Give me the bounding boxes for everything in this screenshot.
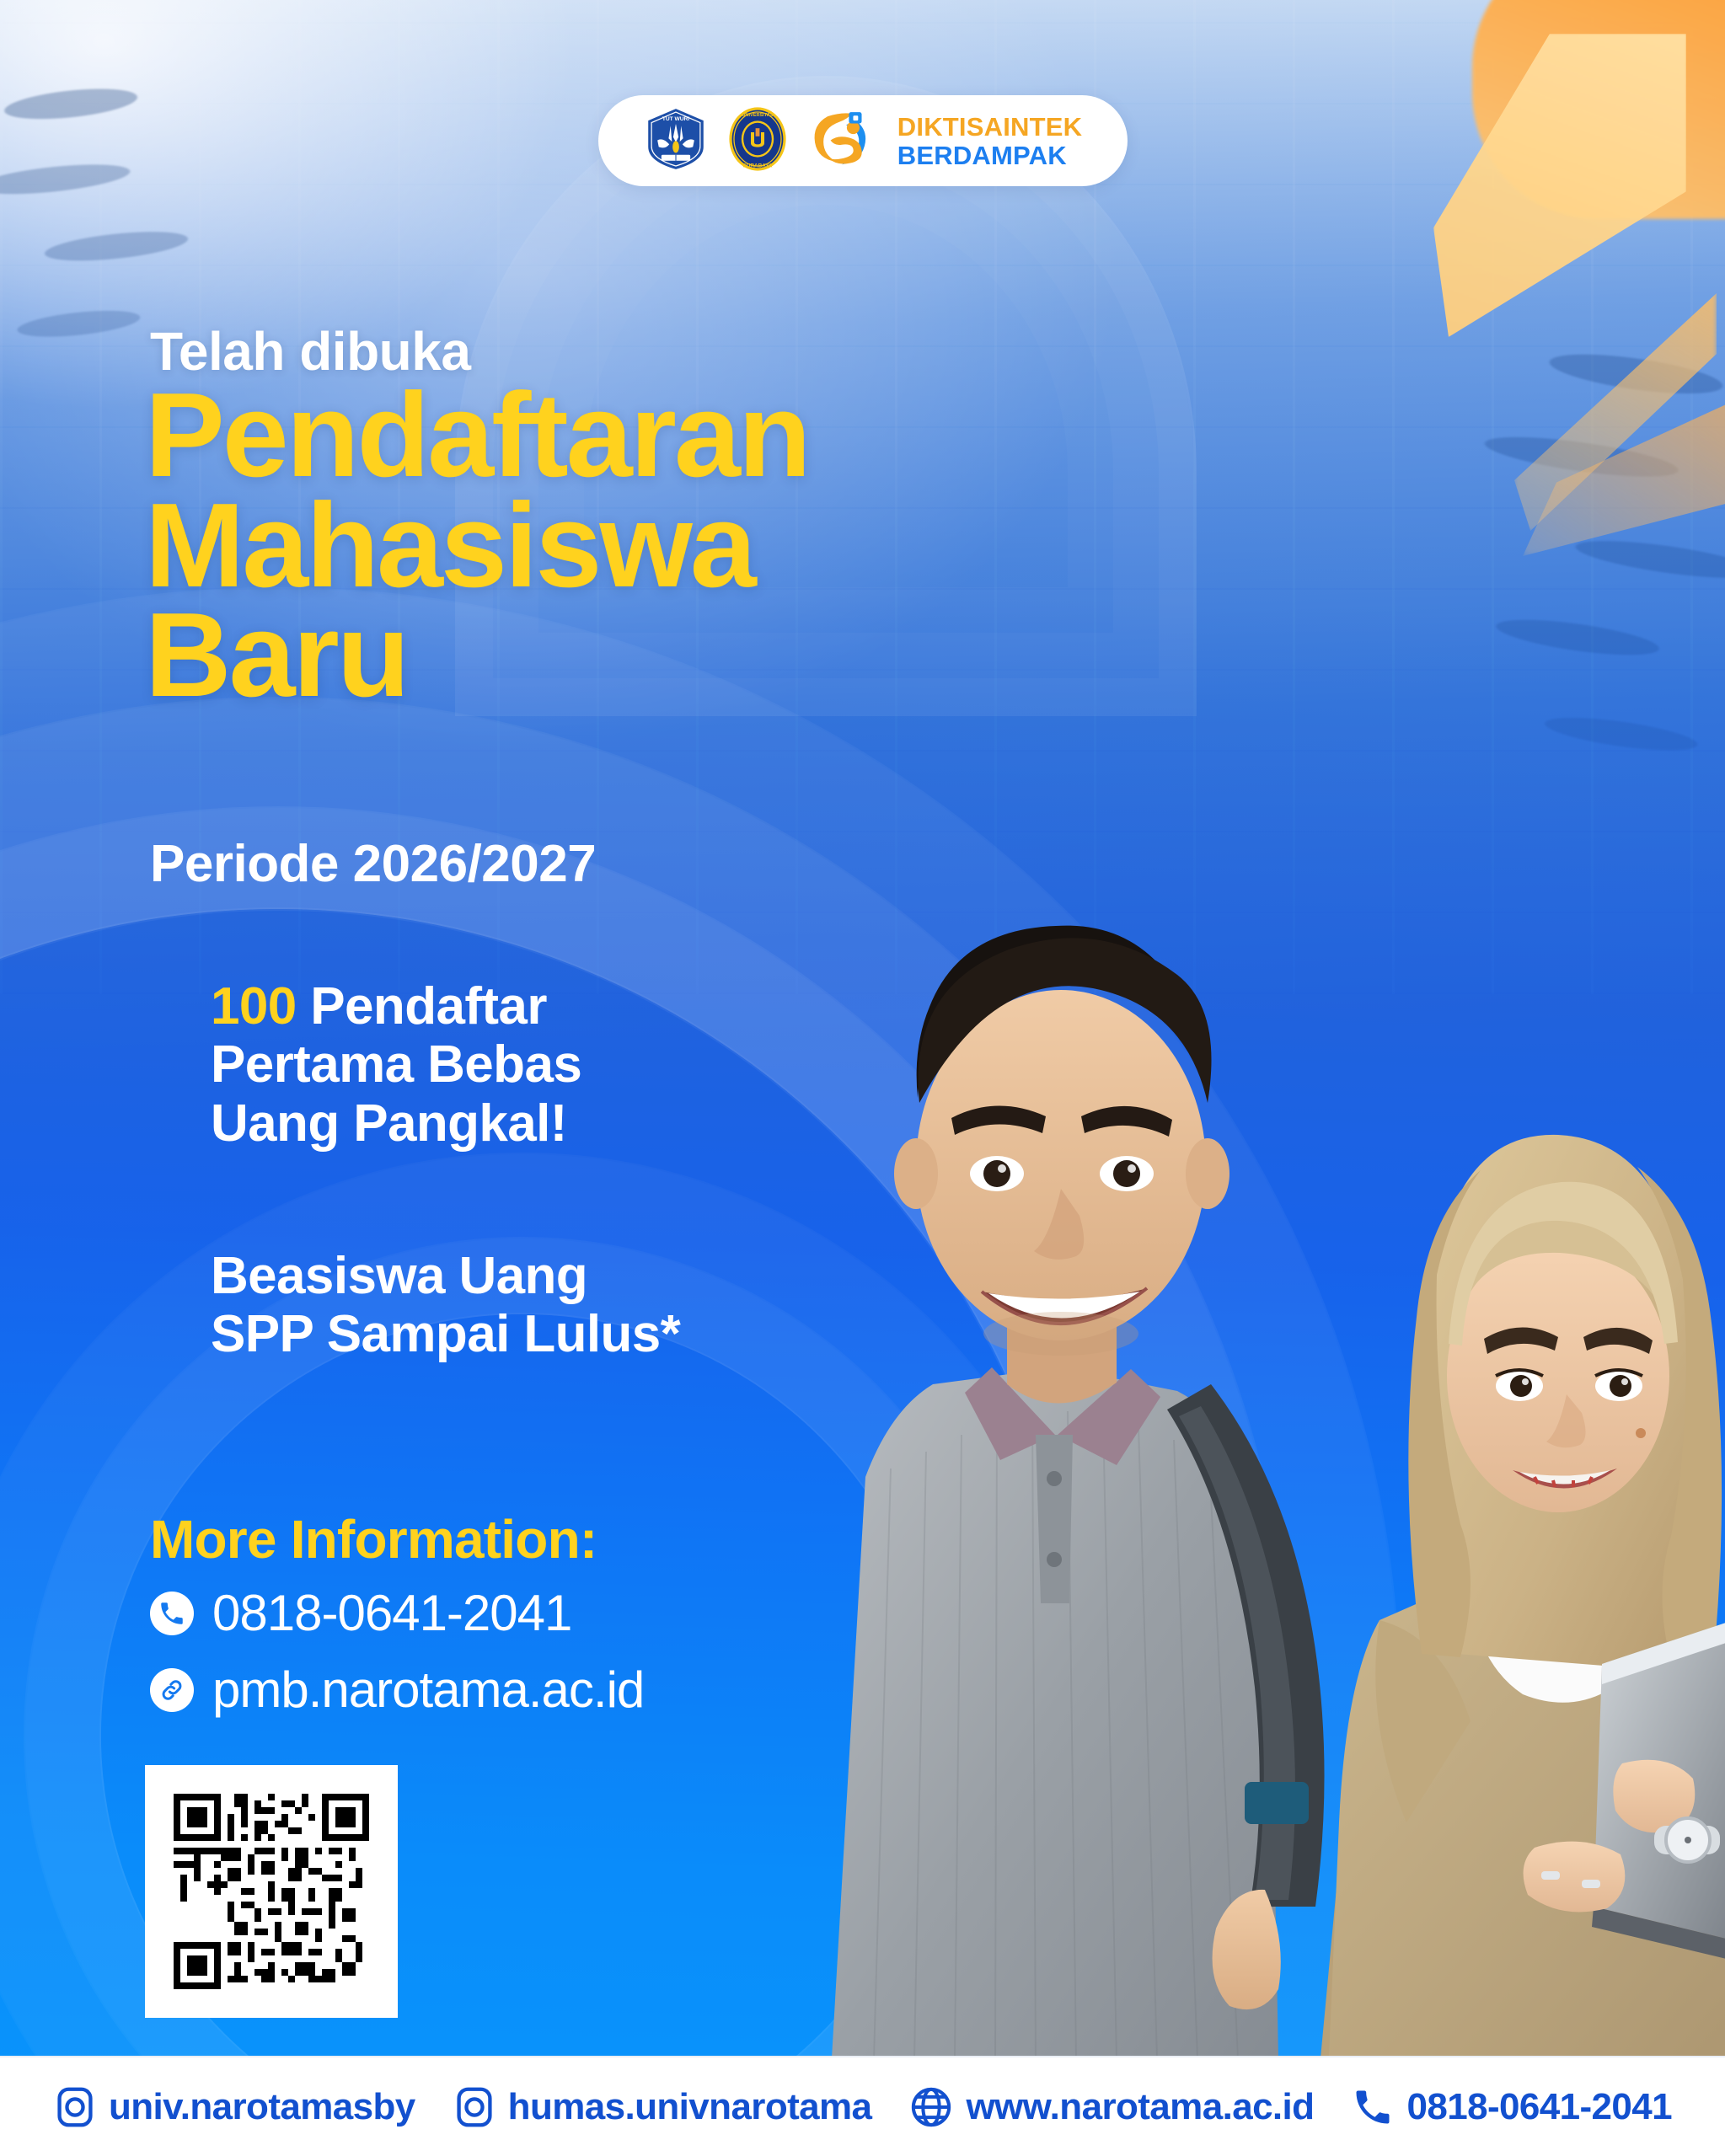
link-icon — [150, 1668, 194, 1712]
scholarship-line-1: Beasiswa Uang — [211, 1247, 680, 1305]
contact-row-phone[interactable]: 0818-0641-2041 — [150, 1584, 644, 1642]
offer-highlight-number: 100 — [211, 977, 297, 1035]
contact-phone-text: 0818-0641-2041 — [212, 1584, 571, 1642]
footer-instagram-univ-text: univ.narotamasby — [109, 2086, 415, 2128]
offer-line-1-rest: Pendaftar — [297, 977, 547, 1035]
headline-line-3: Baru — [145, 601, 809, 711]
period-text: Periode 2026/2027 — [150, 834, 596, 894]
offer-line-3: Uang Pangkal! — [211, 1094, 581, 1153]
globe-icon — [908, 2084, 954, 2130]
instagram-icon — [453, 2085, 496, 2129]
footer-phone-text: 0818-0641-2041 — [1406, 2086, 1672, 2128]
qr-code[interactable] — [145, 1765, 398, 2018]
svg-text:UNIVERSITAS: UNIVERSITAS — [742, 112, 773, 117]
footer-bar: univ.narotamasby humas.univnarotama — [0, 2056, 1725, 2156]
page-title: Pendaftaran Mahasiswa Baru — [145, 381, 809, 711]
diktisaintek-text-line2: BERDAMPAK — [897, 142, 1082, 169]
footer-instagram-humas-text: humas.univnarotama — [508, 2086, 872, 2128]
contact-website-text: pmb.narotama.ac.id — [212, 1661, 644, 1719]
offer-line-1: 100 Pendaftar — [211, 977, 581, 1035]
footer-item-website[interactable]: www.narotama.ac.id — [908, 2084, 1314, 2130]
headline-line-2: Mahasiswa — [145, 491, 809, 602]
contact-row-website[interactable]: pmb.narotama.ac.id — [150, 1661, 644, 1719]
diktisaintek-logo-icon — [806, 104, 877, 179]
tut-wuri-handayani-logo-icon: TUT WURI — [643, 106, 709, 176]
svg-text:TUT WURI: TUT WURI — [662, 116, 689, 122]
offer-line-2: Pertama Bebas — [211, 1035, 581, 1094]
footer-item-instagram-humas[interactable]: humas.univnarotama — [453, 2085, 872, 2129]
footer-website-text: www.narotama.ac.id — [966, 2086, 1314, 2128]
svg-text:SURABAYA: SURABAYA — [742, 163, 772, 169]
diktisaintek-text-line1: DIKTISAINTEK — [897, 114, 1082, 140]
instagram-icon — [53, 2085, 97, 2129]
headline-line-1: Pendaftaran — [145, 381, 809, 491]
phone-icon — [150, 1592, 194, 1635]
phone-icon — [1351, 2085, 1395, 2129]
universitas-narotama-logo-icon: UNIVERSITAS SURABAYA — [724, 105, 791, 177]
scholarship-line-2: SPP Sampai Lulus* — [211, 1305, 680, 1363]
footer-item-instagram-univ[interactable]: univ.narotamasby — [53, 2085, 415, 2129]
scholarship-block: Beasiswa Uang SPP Sampai Lulus* — [211, 1247, 680, 1364]
poster-root: TUT WURI UNIVERSITAS — [0, 0, 1725, 2156]
contact-list: 0818-0641-2041 pmb.narotama.ac.id — [150, 1584, 644, 1719]
logo-bar: TUT WURI UNIVERSITAS — [598, 95, 1128, 186]
more-information-title: More Information: — [150, 1508, 597, 1570]
wave-rings-decoration-secondary — [101, 1314, 944, 2156]
offer-block: 100 Pendaftar Pertama Bebas Uang Pangkal… — [211, 977, 581, 1153]
footer-item-phone[interactable]: 0818-0641-2041 — [1351, 2085, 1672, 2129]
qr-code-image — [174, 1794, 369, 1989]
diktisaintek-wordmark: DIKTISAINTEK BERDAMPAK — [897, 114, 1082, 169]
